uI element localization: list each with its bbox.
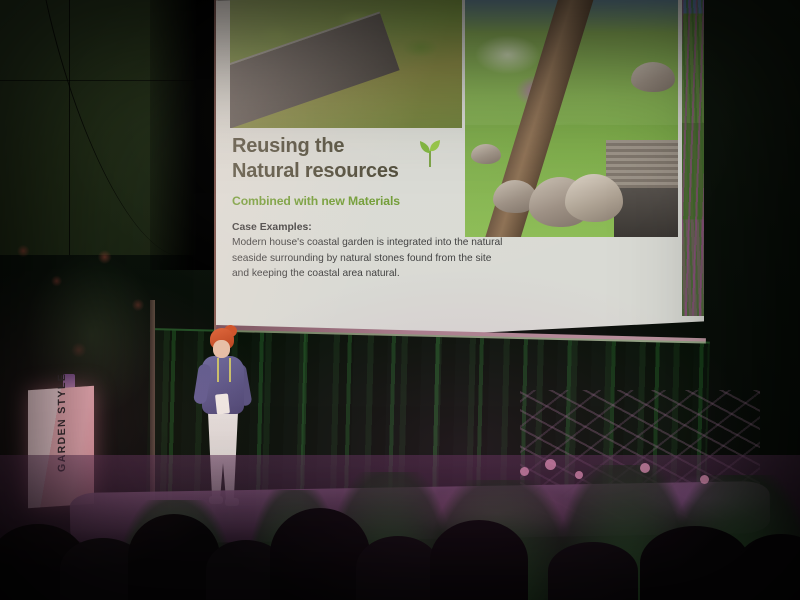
blossom xyxy=(575,471,583,479)
projection-screen: Reusing the Natural resources Combined w… xyxy=(216,0,704,346)
slide-image-loosestrife xyxy=(682,0,704,316)
blossom xyxy=(700,475,709,484)
speaker-face xyxy=(213,340,230,358)
audience-head xyxy=(640,526,750,600)
audience-head xyxy=(270,508,370,600)
blossom xyxy=(640,463,650,473)
speaker-lanyard xyxy=(217,358,231,382)
flower-spikes xyxy=(682,0,704,316)
roof-edge xyxy=(230,13,400,128)
slide-body-line-2: seaside surrounding by natural stones fo… xyxy=(232,251,544,267)
slide-body-line-3: and keeping the coastal area natural. xyxy=(232,266,544,282)
speaker-notes xyxy=(215,393,230,414)
blossom xyxy=(520,467,529,476)
audience-head xyxy=(430,520,528,600)
boulder xyxy=(471,144,501,164)
slide-case-heading: Case Examples: xyxy=(232,222,462,233)
slide-body-text: Modern house's coastal garden is integra… xyxy=(232,235,544,282)
slide-image-coastal-garden xyxy=(465,0,678,237)
slide-subtitle: Combined with new Materials xyxy=(232,194,462,208)
audience-head xyxy=(548,542,638,600)
conference-photo: Reusing the Natural resources Combined w… xyxy=(0,0,800,600)
water-surface xyxy=(614,188,678,237)
audience-head xyxy=(356,536,440,600)
slide-image-green-roof xyxy=(230,0,462,128)
boulder xyxy=(631,62,675,92)
sprout-icon xyxy=(417,138,443,168)
slide-body-line-1: Modern house's coastal garden is integra… xyxy=(232,235,544,251)
boulder xyxy=(565,174,623,222)
blossom xyxy=(545,459,556,470)
slide-text-block: Reusing the Natural resources Combined w… xyxy=(232,134,462,282)
